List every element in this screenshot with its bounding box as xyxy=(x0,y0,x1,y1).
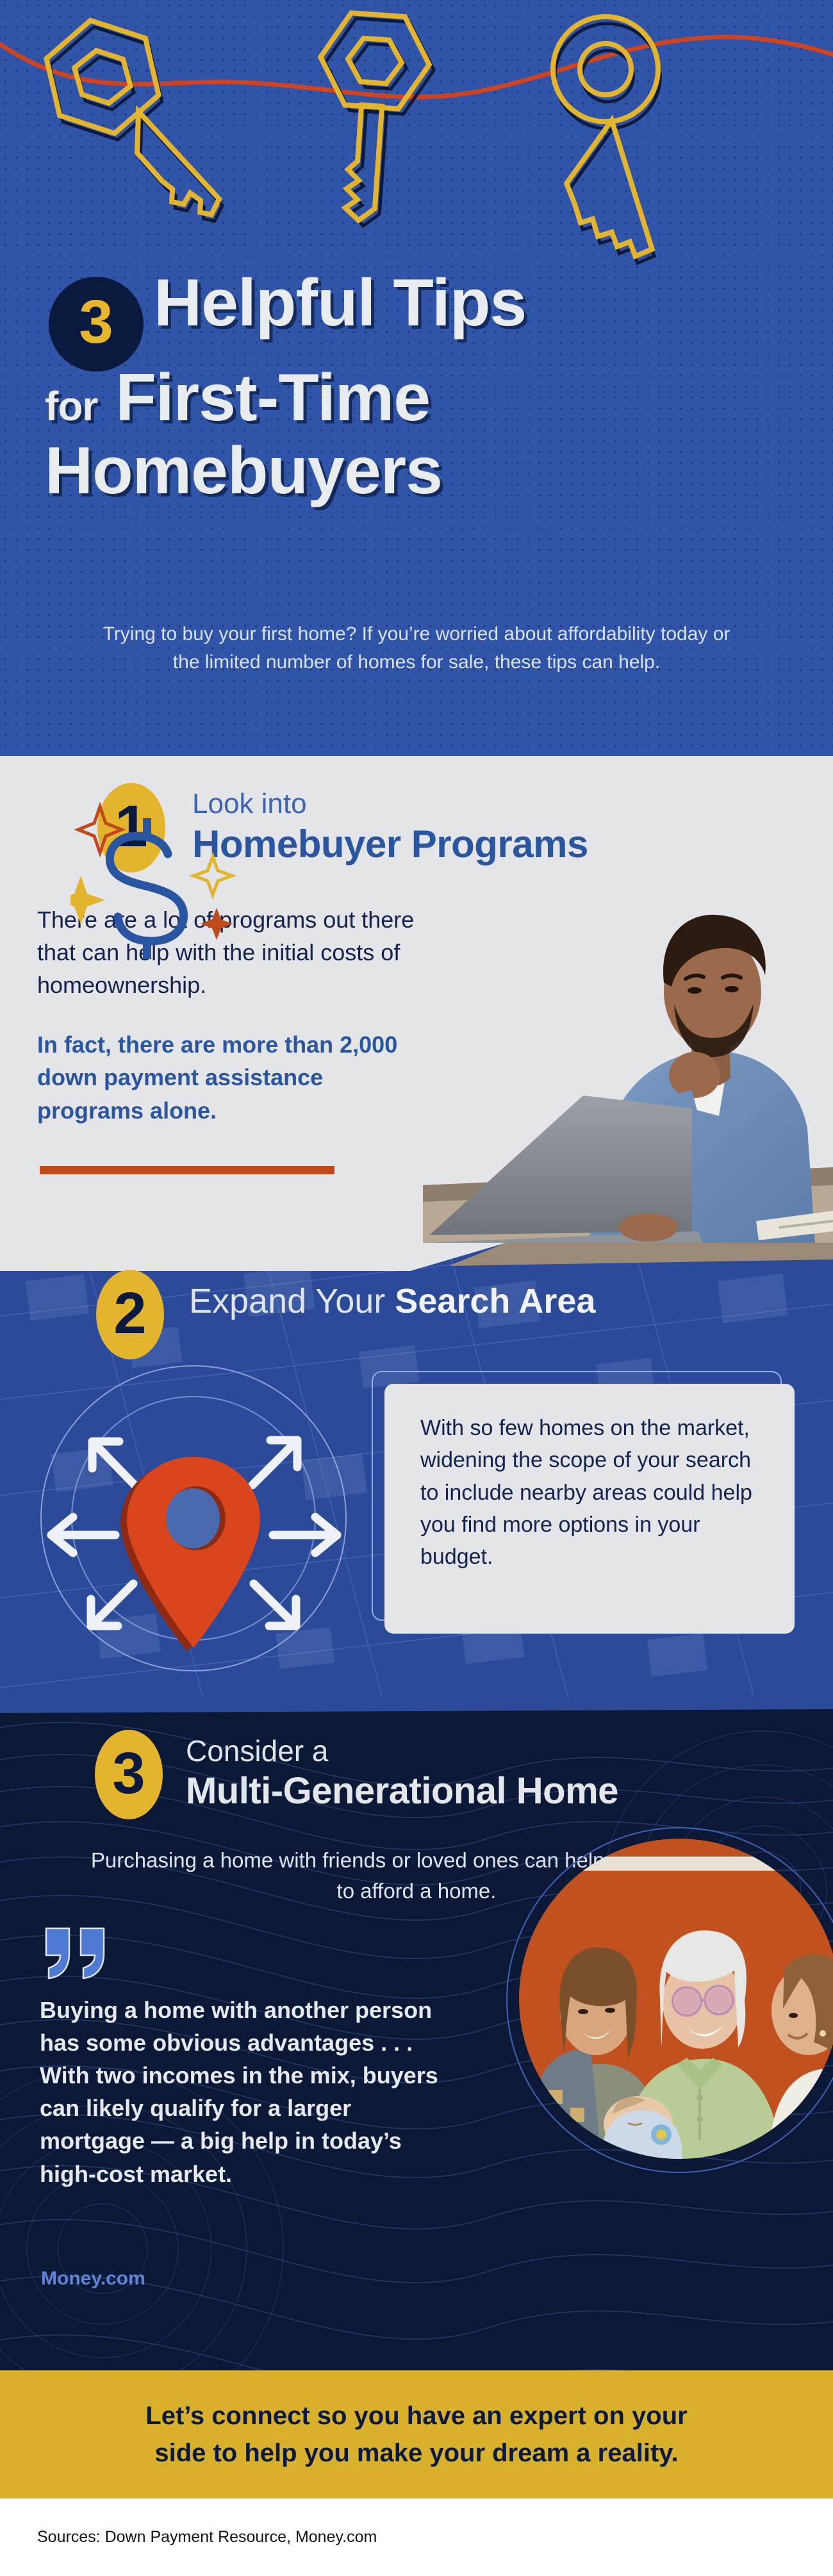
hero-section: 3 Helpful Tips for First-Time Homebuyers… xyxy=(0,0,833,756)
hero-subtitle: Trying to buy your first home? If you’re… xyxy=(103,620,730,676)
tip-3-photo xyxy=(519,1839,833,2159)
arrow-nw xyxy=(92,1441,136,1486)
tip-2-illustration xyxy=(14,1358,373,1678)
cta-line-1: Let’s connect so you have an expert on y… xyxy=(145,2397,687,2434)
three-generations-family-photo xyxy=(519,1839,833,2159)
map-pin-expanding-icon xyxy=(14,1358,373,1678)
tip-1-photo xyxy=(423,839,833,1243)
tip-2-title: Search Area xyxy=(395,1282,595,1320)
sparkle-icon-3 xyxy=(70,876,105,924)
footer: Sources: Down Payment Resource, Money.co… xyxy=(0,2498,833,2576)
keys-illustration xyxy=(0,0,833,275)
tip-3-heading: Consider a Multi-Generational Home xyxy=(186,1735,618,1811)
tip-section-1: 1 Look into Homebuyer Programs There are… xyxy=(0,756,833,1243)
headline-line-3: Homebuyers xyxy=(45,437,814,505)
headline-line-1: Helpful Tips xyxy=(154,269,814,337)
tip-section-2: 2 Expand Your Search Area With so few ho… xyxy=(0,1243,833,1698)
tip-3-attribution: Money.com xyxy=(41,2268,145,2290)
headline-first-time: First-Time xyxy=(115,361,430,435)
sparkle-icon-4 xyxy=(201,908,233,940)
quote-mark-icon xyxy=(41,1923,118,1982)
page-title: Helpful Tips for First-Time Homebuyers xyxy=(154,269,814,505)
cta-text: Let’s connect so you have an expert on y… xyxy=(145,2397,687,2472)
tip-1-accent-rule xyxy=(40,1166,334,1174)
tip-3-quote: Buying a home with another person has so… xyxy=(40,1994,450,2190)
hero-badge-number: 3 xyxy=(79,291,113,353)
man-at-laptop-photo xyxy=(423,839,833,1243)
tip-2-kicker: Expand Your xyxy=(189,1282,385,1320)
tip-2-card: With so few homes on the market, widenin… xyxy=(384,1384,795,1634)
tip-2-number-badge: 2 xyxy=(96,1270,164,1359)
tip-2-heading: Expand Your Search Area xyxy=(189,1283,596,1320)
sparkle-icon-2 xyxy=(194,857,232,895)
headline-for-word: for xyxy=(45,383,97,429)
arrow-ne xyxy=(252,1440,297,1485)
tip-section-3: 3 Consider a Multi-Generational Home Pur… xyxy=(0,1698,833,2370)
tip-2-number: 2 xyxy=(113,1284,146,1343)
key-icon-2 xyxy=(309,11,438,230)
hero-number-badge: 3 xyxy=(49,277,144,372)
tip-2-card-text: With so few homes on the market, widenin… xyxy=(420,1412,759,1573)
cta-banner: Let’s connect so you have an expert on y… xyxy=(0,2370,833,2498)
headline-line-2: for First-Time xyxy=(45,364,814,432)
key-icon-1 xyxy=(14,11,264,223)
tip-3-number: 3 xyxy=(112,1744,145,1803)
tip-3-number-badge: 3 xyxy=(95,1730,163,1819)
tip-1-callout: In fact, there are more than 2,000 down … xyxy=(37,1028,434,1126)
sources-text: Sources: Down Payment Resource, Money.co… xyxy=(37,2528,377,2547)
key-icon-3 xyxy=(486,0,746,268)
tip-3-kicker: Consider a xyxy=(186,1735,618,1768)
cta-line-2: side to help you make your dream a reali… xyxy=(145,2434,687,2472)
dollar-sign-icon xyxy=(70,791,263,977)
tip-3-title: Multi-Generational Home xyxy=(186,1771,618,1812)
